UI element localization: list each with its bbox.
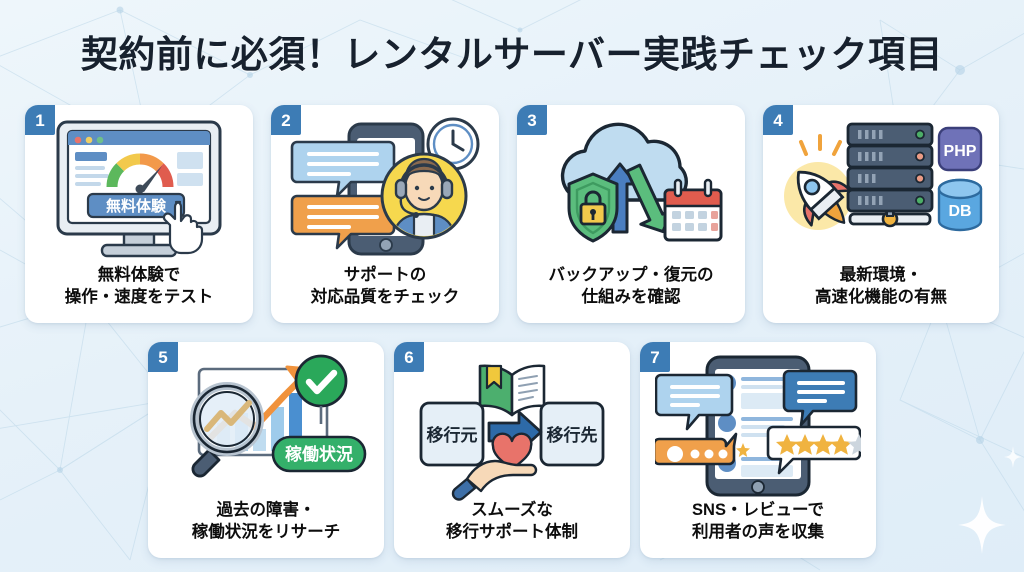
uptime-research-chart-illustration: 稼働状況	[148, 350, 384, 502]
security-shield-lock-icon	[569, 174, 617, 241]
checklist-card-6[interactable]: 6 移行元	[394, 342, 630, 558]
checklist-card-2[interactable]: 2	[271, 105, 499, 323]
support-agent-chat-illustration	[271, 113, 499, 265]
card-caption: バックアップ・復元の 仕組みを確認	[517, 265, 745, 309]
server-rack-speed-illustration: PHP DB	[763, 113, 999, 265]
caption-line-1: SNS・レビューで	[640, 500, 876, 522]
uptime-pill-label: 稼働状況	[285, 444, 353, 464]
status-led-orange	[916, 153, 924, 161]
sparkle-icon	[958, 496, 1006, 554]
checklist-card-1[interactable]: 1	[25, 105, 253, 323]
status-led-orange	[916, 175, 924, 183]
sparkle-small-icon	[1004, 446, 1022, 468]
caption-line-1: サポートの	[271, 265, 499, 287]
checklist-card-4[interactable]: 4	[763, 105, 999, 323]
database-icon: DB	[939, 180, 981, 230]
cloud-backup-restore-illustration	[517, 113, 745, 265]
caption-line-1: スムーズな	[394, 500, 630, 522]
migration-target-box: 移行先	[541, 403, 603, 465]
card-caption: 過去の障害・ 稼働状況をリサーチ	[148, 500, 384, 544]
page-title: 契約前に必須！レンタルサーバー実践チェック項目	[0, 24, 1024, 78]
caption-line-2: 移行サポート体制	[394, 522, 630, 544]
status-led-green	[916, 131, 924, 139]
card-caption: SNS・レビューで 利用者の声を収集	[640, 500, 876, 544]
magnifier-icon	[193, 386, 260, 476]
status-led-green	[916, 197, 924, 205]
migration-source-label: 移行元	[427, 425, 478, 445]
card-caption: 最新環境・ 高速化機能の有無	[763, 265, 999, 309]
caption-line-2: 対応品質をチェック	[271, 287, 499, 309]
speed-lines-icon	[801, 136, 840, 154]
star-rating-bubble	[768, 427, 861, 473]
migration-target-label: 移行先	[547, 425, 598, 445]
checklist-card-5[interactable]: 5	[148, 342, 384, 558]
caption-line-1: 過去の障害・	[148, 500, 384, 522]
caption-line-2: 操作・速度をテスト	[25, 287, 253, 309]
caption-line-1: 無料体験で	[25, 265, 253, 287]
calendar-icon	[665, 180, 721, 240]
caption-line-1: バックアップ・復元の	[517, 265, 745, 287]
php-badge-icon: PHP	[939, 128, 981, 170]
card-caption: 無料体験で 操作・速度をテスト	[25, 265, 253, 309]
monitor-speed-test-illustration: 無料体験	[25, 113, 253, 265]
caption-line-2: 仕組みを確認	[517, 287, 745, 309]
checklist-card-7[interactable]: 7	[640, 342, 876, 558]
free-trial-button-label: 無料体験	[106, 197, 167, 215]
checklist-card-3[interactable]: 3	[517, 105, 745, 323]
card-caption: スムーズな 移行サポート体制	[394, 500, 630, 544]
caption-line-2: 利用者の声を収集	[640, 522, 876, 544]
caption-line-1: 最新環境・	[763, 265, 999, 287]
supporting-hand-icon	[453, 461, 536, 500]
migration-source-box: 移行元	[421, 403, 483, 465]
caption-line-2: 稼働状況をリサーチ	[148, 522, 384, 544]
php-label: PHP	[944, 143, 977, 160]
infographic-canvas: 契約前に必須！レンタルサーバー実践チェック項目 1	[0, 0, 1024, 572]
manual-book-icon	[480, 366, 544, 415]
card-caption: サポートの 対応品質をチェック	[271, 265, 499, 309]
db-label: DB	[948, 203, 971, 220]
typing-bubble-icon	[655, 434, 736, 464]
caption-line-2: 高速化機能の有無	[763, 287, 999, 309]
sns-review-tablet-illustration	[640, 350, 876, 502]
uptime-status-pill: 稼働状況	[273, 437, 365, 471]
server-rack-icon	[848, 124, 932, 226]
migration-support-illustration: 移行元 移行先	[394, 350, 630, 502]
